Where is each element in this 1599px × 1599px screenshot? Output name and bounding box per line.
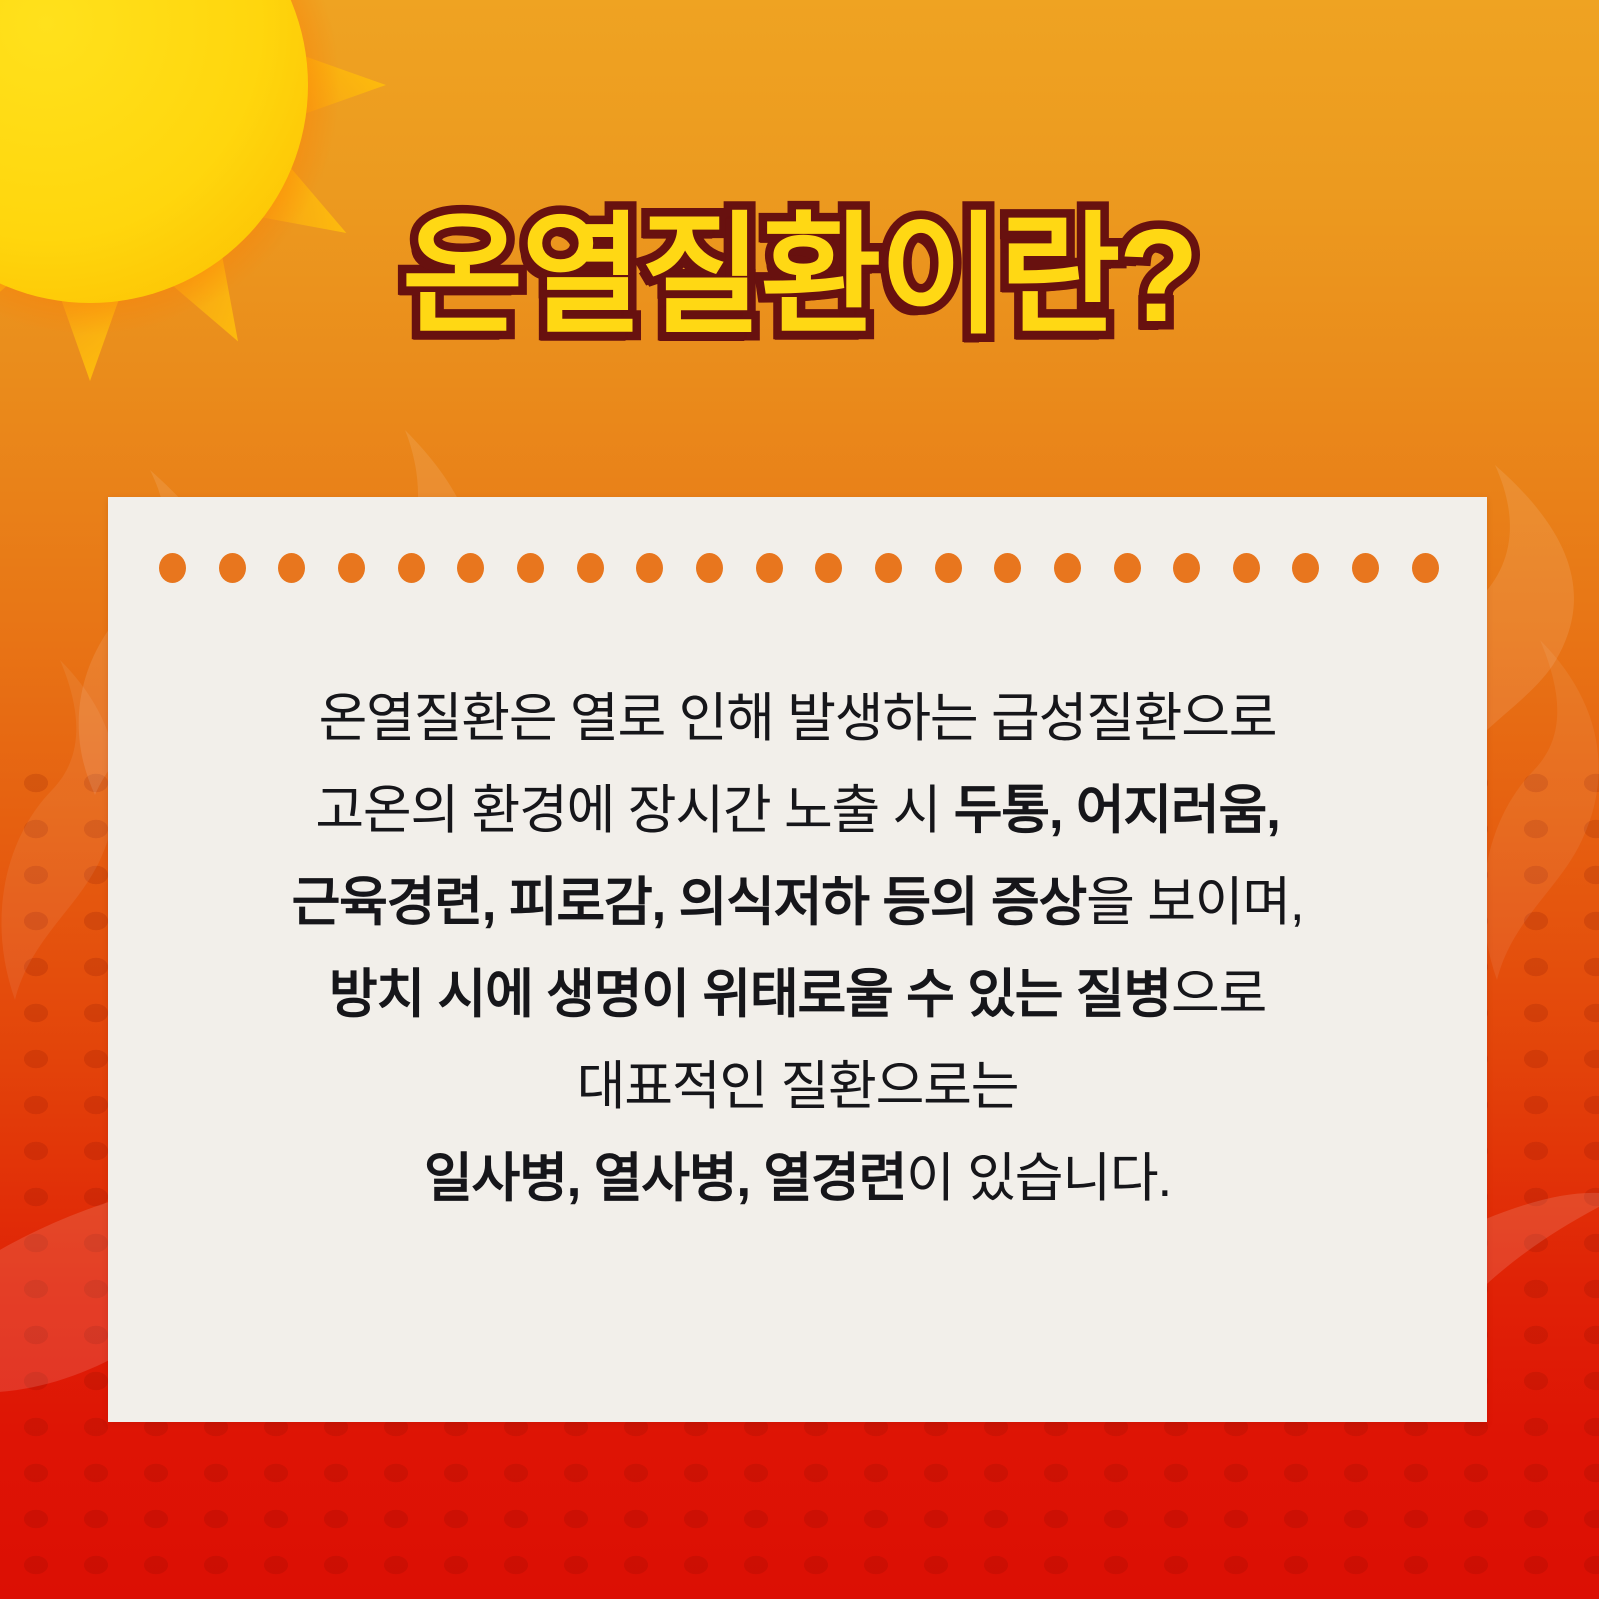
body-line: 온열질환은 열로 인해 발생하는 급성질환으로 xyxy=(168,673,1427,765)
page-title: 온열질환이란? xyxy=(402,205,1197,348)
decorative-dot xyxy=(875,553,902,583)
body-paragraph: 온열질환은 열로 인해 발생하는 급성질환으로고온의 환경에 장시간 노출 시 … xyxy=(168,673,1427,1225)
decorative-dot xyxy=(1352,553,1379,583)
decorative-dot xyxy=(278,553,305,583)
sun-icon xyxy=(0,0,390,385)
body-text: 으로 xyxy=(1171,965,1266,1024)
decorative-dot xyxy=(935,553,962,583)
decorative-dot xyxy=(1173,553,1200,583)
body-text: 대표적인 질환으로는 xyxy=(577,1057,1019,1116)
decorative-dot xyxy=(1233,553,1260,583)
decorative-dot xyxy=(696,553,723,583)
decorative-dot-row xyxy=(159,553,1439,583)
decorative-dot xyxy=(159,553,186,583)
decorative-dot xyxy=(398,553,425,583)
decorative-dot xyxy=(1412,553,1439,583)
decorative-dot xyxy=(994,553,1021,583)
content-card: 온열질환은 열로 인해 발생하는 급성질환으로고온의 환경에 장시간 노출 시 … xyxy=(108,497,1487,1422)
decorative-dot xyxy=(636,553,663,583)
body-line: 대표적인 질환으로는 xyxy=(168,1041,1427,1133)
page-title-container: 온열질환이란? xyxy=(0,205,1599,348)
decorative-dot xyxy=(815,553,842,583)
decorative-dot xyxy=(1292,553,1319,583)
body-line: 근육경련, 피로감, 의식저하 등의 증상을 보이며, xyxy=(168,857,1427,949)
body-emphasis: 근육경련, 피로감, 의식저하 등의 증상 xyxy=(292,873,1087,932)
body-text: 이 있습니다. xyxy=(906,1149,1171,1208)
body-line: 고온의 환경에 장시간 노출 시 두통, 어지러움, xyxy=(168,765,1427,857)
body-line: 일사병, 열사병, 열경련이 있습니다. xyxy=(168,1133,1427,1225)
decorative-dot xyxy=(1054,553,1081,583)
decorative-dot xyxy=(457,553,484,583)
body-line: 방치 시에 생명이 위태로울 수 있는 질병으로 xyxy=(168,949,1427,1041)
body-emphasis: 방치 시에 생명이 위태로울 수 있는 질병 xyxy=(329,965,1171,1024)
decorative-dot xyxy=(219,553,246,583)
decorative-dot xyxy=(517,553,544,583)
body-text: 온열질환은 열로 인해 발생하는 급성질환으로 xyxy=(319,689,1277,748)
body-emphasis: 일사병, 열사병, 열경련 xyxy=(424,1149,906,1208)
body-emphasis: 두통, 어지러움, xyxy=(954,781,1280,840)
decorative-dot xyxy=(1114,553,1141,583)
heat-illness-infographic-poster: 온열질환이란? 온열질환은 열로 인해 발생하는 급성질환으로고온의 환경에 장… xyxy=(0,0,1599,1599)
decorative-dot xyxy=(756,553,783,583)
decorative-dot xyxy=(577,553,604,583)
decorative-dot xyxy=(338,553,365,583)
body-text: 고온의 환경에 장시간 노출 시 xyxy=(315,781,953,840)
body-text: 을 보이며, xyxy=(1086,873,1303,932)
